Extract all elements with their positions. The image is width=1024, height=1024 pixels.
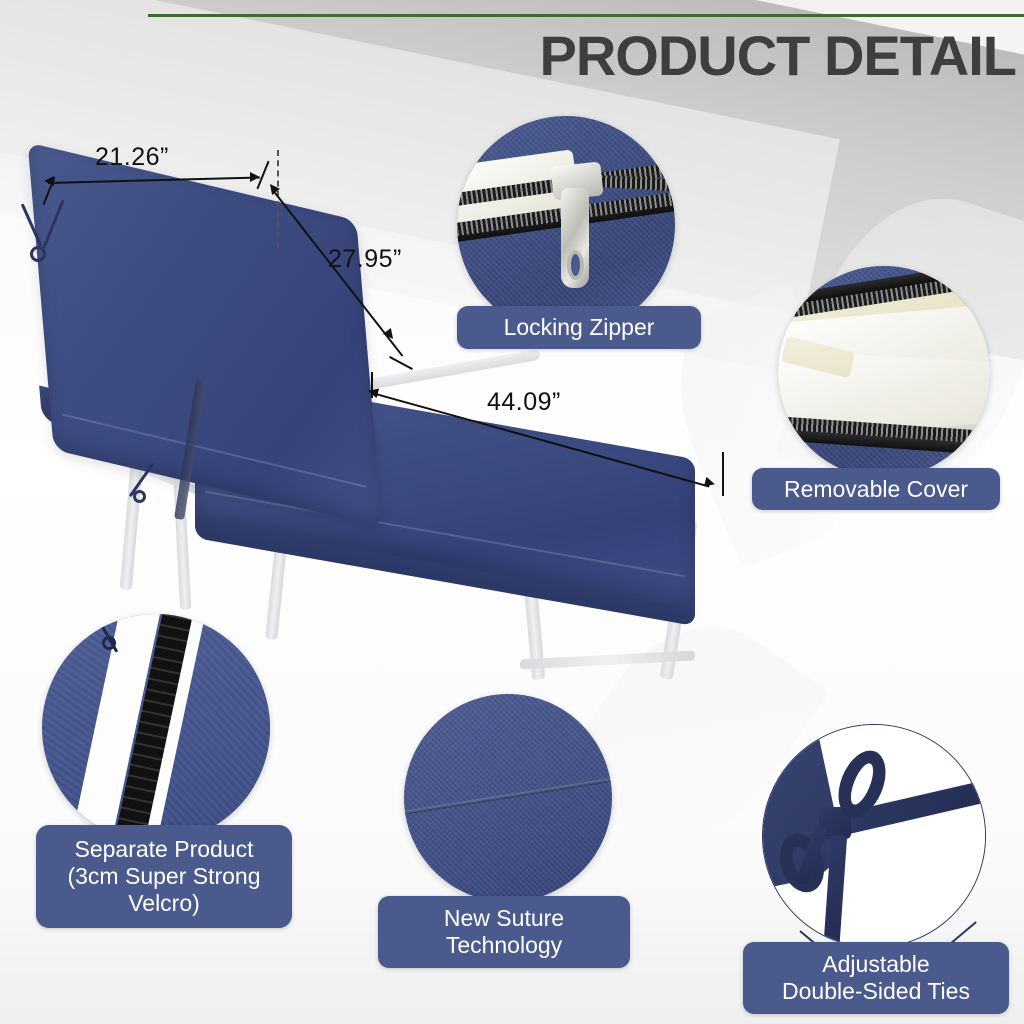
detail-label-ties: Adjustable Double-Sided Ties (743, 942, 1009, 1014)
cushion-tie-loop (133, 490, 146, 503)
dimension-label-length: 44.09” (487, 388, 561, 417)
detail-photo-ties (762, 724, 986, 948)
detail-label-locking-zipper: Locking Zipper (457, 306, 701, 349)
dimension-label-width: 21.26” (95, 143, 169, 172)
armrest-right (355, 349, 540, 393)
detail-label-removable-cover: Removable Cover (752, 468, 1000, 510)
back-cushion (28, 142, 383, 527)
detail-label-velcro: Separate Product (3cm Super Strong Velcr… (36, 825, 292, 928)
detail-label-suture: New Suture Technology (378, 896, 630, 968)
dimension-label-backrest: 27.95” (328, 245, 402, 274)
detail-photo-locking-zipper (457, 116, 675, 334)
detail-photo-velcro (42, 614, 270, 842)
back-seam (62, 414, 366, 488)
cushion-tie-loop (30, 246, 46, 262)
detail-photo-suture (404, 694, 612, 902)
page-title: PRODUCT DETAIL (540, 28, 1017, 84)
detail-photo-removable-cover (778, 266, 990, 478)
header-rule (148, 14, 1024, 17)
